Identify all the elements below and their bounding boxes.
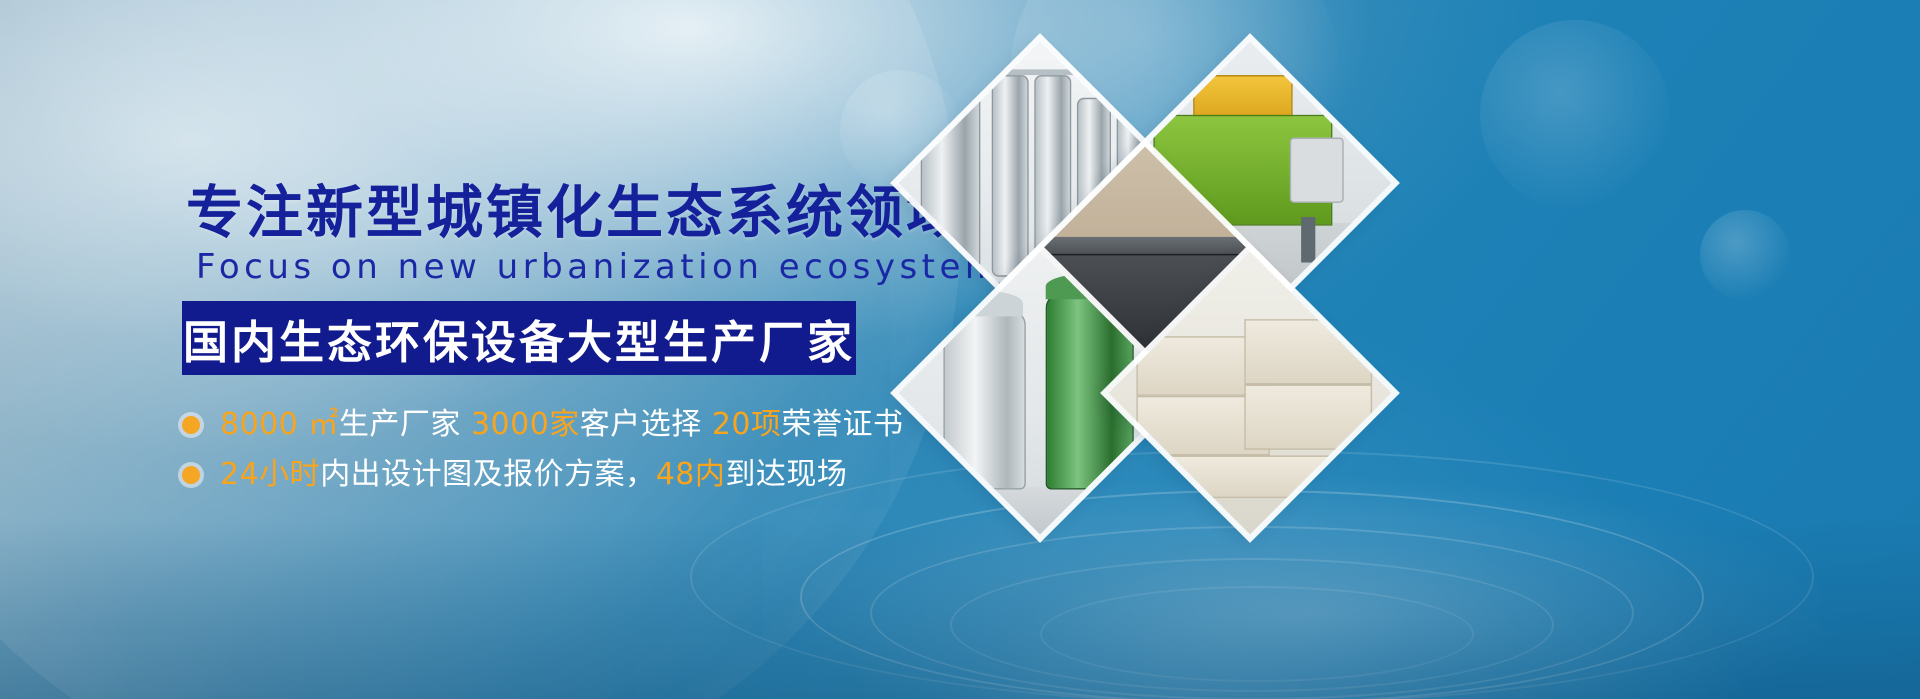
product-diamond-gallery xyxy=(900,35,1920,555)
bullet-dot-icon xyxy=(182,416,200,434)
bullet-text-1: 8000 ㎡生产厂家 3000家客户选择 20项荣誉证书 xyxy=(220,410,904,440)
banner-copy: 专注新型城镇化生态系统领域 Focus on new urbanization … xyxy=(0,0,900,699)
bullet-text-2: 24小时内出设计图及报价方案，48内到达现场 xyxy=(220,460,847,490)
bullet-dot-icon xyxy=(182,466,200,484)
banner-highlight-box: 国内生态环保设备大型生产厂家 xyxy=(182,301,856,375)
list-item: 24小时内出设计图及报价方案，48内到达现场 xyxy=(182,450,922,500)
banner-bullet-list: 8000 ㎡生产厂家 3000家客户选择 20项荣誉证书 24小时内出设计图及报… xyxy=(182,400,922,500)
banner-subheadline: Focus on new urbanization ecosystem xyxy=(196,250,1003,284)
list-item: 8000 ㎡生产厂家 3000家客户选择 20项荣誉证书 xyxy=(182,400,922,450)
hero-banner: 专注新型城镇化生态系统领域 Focus on new urbanization … xyxy=(0,0,1920,699)
banner-headline: 专注新型城镇化生态系统领域 xyxy=(186,185,966,242)
banner-highlight-text: 国内生态环保设备大型生产厂家 xyxy=(183,306,855,371)
